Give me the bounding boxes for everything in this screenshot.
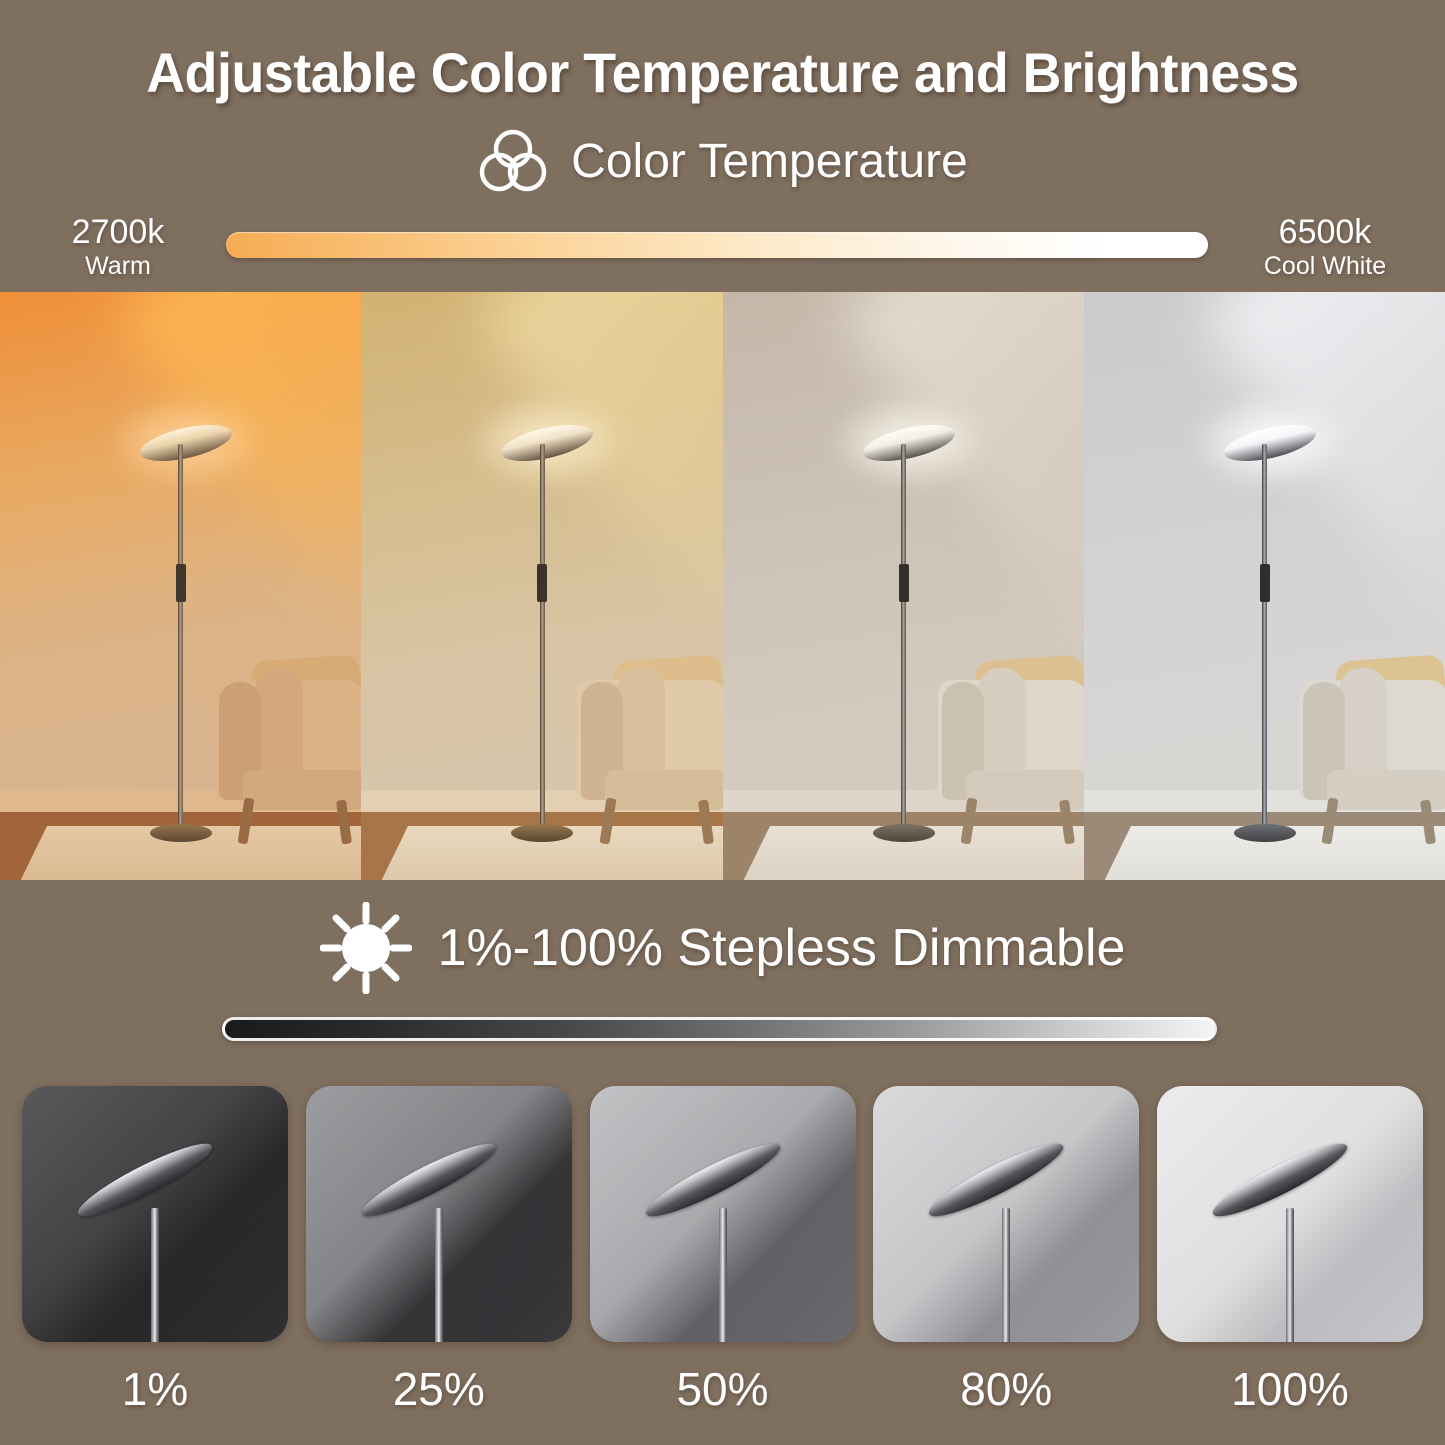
lamp-pole <box>435 1208 443 1342</box>
color-wheel-icon <box>477 128 549 194</box>
lamp-switch[interactable] <box>537 564 547 602</box>
brightness-level-label: 25% <box>306 1362 572 1416</box>
lamp-pole <box>151 1208 159 1342</box>
lamp-pole <box>178 444 183 836</box>
brightness-level-label: 80% <box>873 1362 1139 1416</box>
brightness-tile[interactable] <box>306 1086 572 1342</box>
dimming-section: 1%-100% Stepless Dimmable 1% 25% <box>0 880 1445 1445</box>
cool-kelvin-value: 6500k <box>1225 213 1425 251</box>
page-title: Adjustable Color Temperature and Brightn… <box>29 40 1416 105</box>
sofa-leg <box>599 798 616 845</box>
dimming-title: 1%-100% Stepless Dimmable <box>438 918 1126 978</box>
lamp-base <box>150 824 212 842</box>
photo-panel-warm-white <box>361 292 723 880</box>
brightness-level-label: 100% <box>1157 1362 1423 1416</box>
lamp-pole <box>540 444 545 836</box>
lamp-base <box>1234 824 1296 842</box>
lamp-pole <box>1286 1208 1294 1342</box>
sun-brightness-icon <box>320 902 412 994</box>
product-infographic: Adjustable Color Temperature and Brightn… <box>0 0 1445 1445</box>
sofa <box>213 644 361 844</box>
lamp-base <box>873 824 935 842</box>
brightness-tile[interactable] <box>1157 1086 1423 1342</box>
sofa-leg <box>960 798 977 845</box>
brightness-tile[interactable] <box>873 1086 1139 1342</box>
header-section: Adjustable Color Temperature and Brightn… <box>0 0 1445 292</box>
lamp-pole <box>1262 444 1267 836</box>
color-temperature-gradient-bar[interactable] <box>226 232 1208 258</box>
lamp-pole <box>901 444 906 836</box>
lamp-switch[interactable] <box>176 564 186 602</box>
dimming-heading: 1%-100% Stepless Dimmable <box>0 902 1445 994</box>
lamp-pole <box>1002 1208 1010 1342</box>
brightness-level-label: 1% <box>22 1362 288 1416</box>
cool-end-label: 6500k Cool White <box>1225 213 1425 281</box>
warm-name: Warm <box>28 251 208 281</box>
brightness-level-label: 50% <box>590 1362 856 1416</box>
sofa-leg <box>237 798 254 845</box>
brightness-level-item: 100% <box>1157 1086 1423 1416</box>
brightness-level-item: 50% <box>590 1086 856 1416</box>
photo-panel-cool-6500k <box>1084 292 1445 880</box>
brightness-gradient-bar[interactable] <box>222 1017 1217 1041</box>
brightness-level-item: 80% <box>873 1086 1139 1416</box>
warm-end-label: 2700k Warm <box>28 213 208 281</box>
sofa <box>575 644 723 844</box>
sofa <box>1297 644 1445 844</box>
photo-panel-neutral <box>723 292 1084 880</box>
color-temperature-label: Color Temperature <box>571 134 968 189</box>
sofa <box>936 644 1084 844</box>
warm-kelvin-value: 2700k <box>28 213 208 251</box>
lamp-pole <box>719 1208 727 1342</box>
color-temperature-heading: Color Temperature <box>0 128 1445 194</box>
photo-panel-warm-2700k <box>0 292 361 880</box>
brightness-level-item: 25% <box>306 1086 572 1416</box>
lamp-base <box>511 824 573 842</box>
lamp-switch[interactable] <box>1260 564 1270 602</box>
brightness-tile[interactable] <box>590 1086 856 1342</box>
color-temperature-photo-strip <box>0 292 1445 880</box>
cool-name: Cool White <box>1225 251 1425 281</box>
sofa-leg <box>1321 798 1338 845</box>
brightness-level-tiles: 1% 25% 50% <box>22 1086 1423 1416</box>
brightness-level-item: 1% <box>22 1086 288 1416</box>
lamp-switch[interactable] <box>899 564 909 602</box>
brightness-tile[interactable] <box>22 1086 288 1342</box>
